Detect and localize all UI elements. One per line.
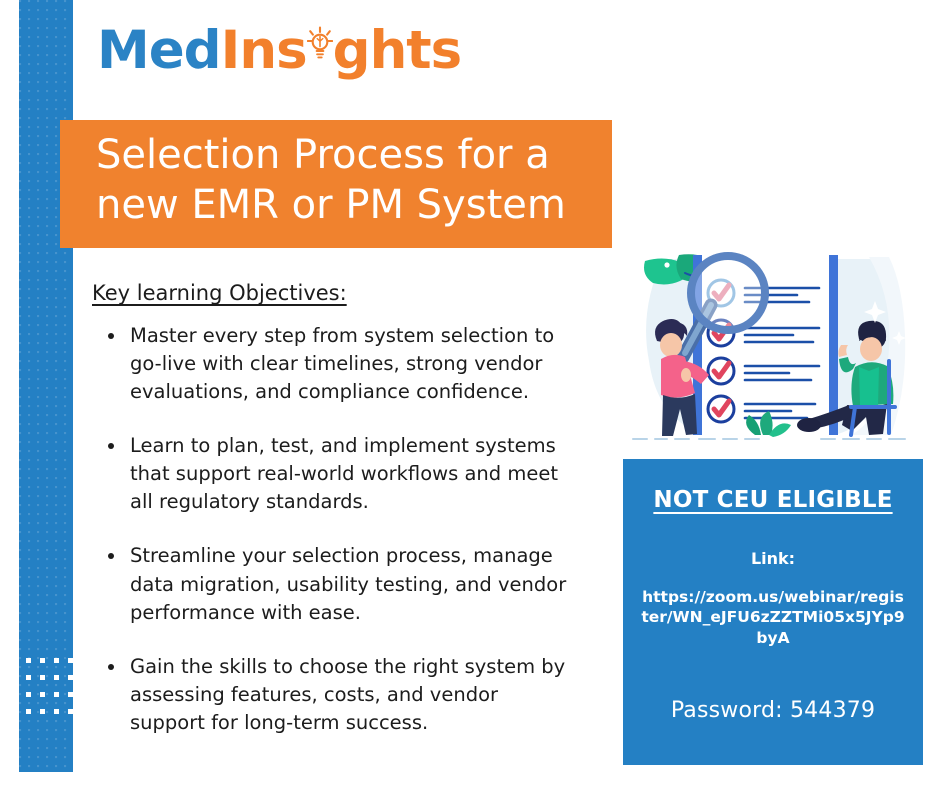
sidebar-dot (68, 709, 73, 714)
password-text: Password: 544379 (623, 698, 923, 723)
logo-text-med: Med (97, 20, 221, 81)
sidebar-dot (40, 692, 45, 697)
list-item: Learn to plan, test, and implement syste… (96, 432, 576, 516)
sidebar-dot (40, 675, 45, 680)
sidebar-dot (40, 658, 45, 663)
sidebar-dot (54, 675, 59, 680)
link-label: Link: (623, 549, 923, 568)
poster-root: MedIns ghts Selection Process for a new … (0, 0, 940, 788)
ceu-eligibility-notice: NOT CEU ELIGIBLE (623, 487, 923, 513)
sidebar-dot (26, 675, 31, 680)
checklist-illustration (623, 249, 923, 452)
page-title-line1: Selection Process for a (96, 130, 612, 180)
sidebar-dot (68, 675, 73, 680)
logo-text-ghts: ghts (333, 20, 462, 81)
sidebar-dot (26, 692, 31, 697)
objectives-heading: Key learning Objectives: (92, 281, 347, 305)
brand-logo: MedIns ghts (97, 22, 461, 77)
info-panel: NOT CEU ELIGIBLE Link: https://zoom.us/w… (623, 459, 923, 765)
sidebar-dot (54, 658, 59, 663)
sidebar-dot (54, 709, 59, 714)
sidebar-dot (54, 692, 59, 697)
sidebar-dot (68, 692, 73, 697)
title-banner: Selection Process for a new EMR or PM Sy… (60, 120, 612, 248)
logo-text-ins: Ins (221, 20, 307, 81)
sidebar-dot (40, 709, 45, 714)
sidebar-dot-grid (19, 654, 73, 746)
list-item: Gain the skills to choose the right syst… (96, 653, 576, 737)
objectives-list: Master every step from system selection … (96, 322, 576, 763)
lightbulb-icon (307, 22, 333, 68)
sidebar-dot (68, 658, 73, 663)
list-item: Master every step from system selection … (96, 322, 576, 406)
left-sidebar-bar (19, 0, 73, 772)
list-item: Streamline your selection process, manag… (96, 542, 576, 626)
sidebar-dot (26, 709, 31, 714)
sidebar-dot (26, 658, 31, 663)
registration-link[interactable]: https://zoom.us/webinar/register/WN_eJFU… (623, 587, 923, 648)
page-title-line2: new EMR or PM System (96, 180, 612, 230)
